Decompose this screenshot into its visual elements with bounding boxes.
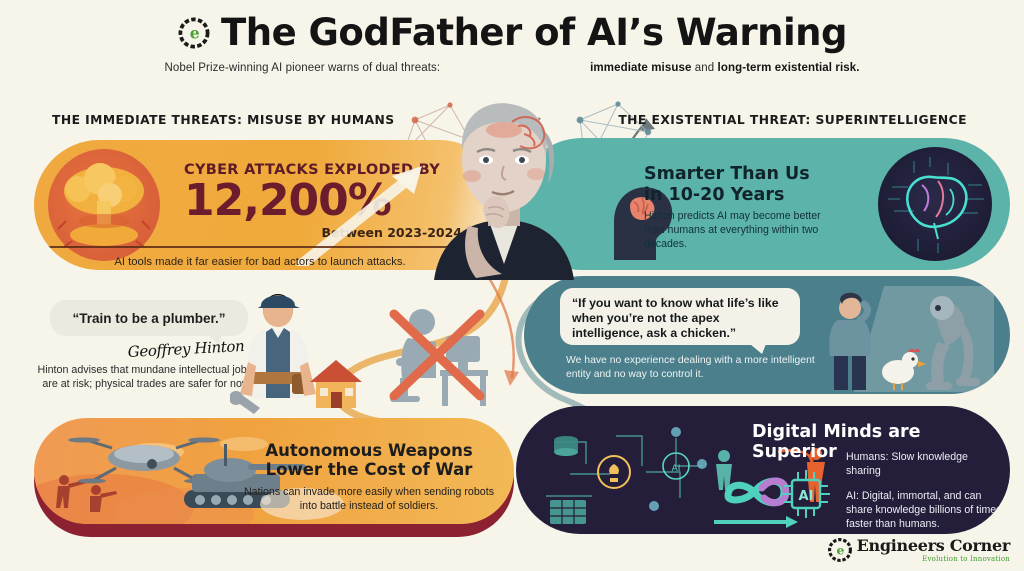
- svg-text:AI: AI: [799, 489, 814, 504]
- svg-text:e: e: [190, 24, 200, 43]
- ai-chip-icon: AI: [776, 464, 836, 524]
- footer-brand-name: Engineers Corner: [857, 536, 1010, 555]
- svg-text:AI: AI: [672, 464, 681, 474]
- footer-brand-logo: e Engineers Corner Evolution to Innovati…: [827, 537, 1010, 563]
- card-digital-minds: AI AI: [516, 406, 1010, 534]
- subtitle-bold-2: long-term existential risk.: [718, 62, 860, 74]
- quote-bubble: “If you want to know what life’s like wh…: [560, 288, 800, 345]
- subtitle-lead: Nobel Prize-winning AI pioneer warns of …: [164, 62, 440, 74]
- smarter-title-line2: in 10-20 Years: [644, 185, 826, 206]
- subtitle-bold-1: immediate misuse: [590, 62, 691, 74]
- smarter-caption: Hinton predicts AI may become better tha…: [644, 210, 826, 251]
- header: e The GodFather of AI’s Warning Nobel Pr…: [0, 14, 1024, 74]
- card-autonomous-weapons: Autonomous Weapons Lower the Cost of War…: [34, 418, 514, 524]
- crossed-out-office-worker-icon: [376, 300, 494, 410]
- card-chicken-quote: “If you want to know what life’s like wh…: [524, 276, 1010, 394]
- nuclear-explosion-icon: [48, 149, 160, 261]
- digital-row-humans: Humans: Slow knowledge sharing: [846, 451, 1004, 479]
- chicken-caption: We have no experience dealing with a mor…: [566, 354, 816, 381]
- plumber-quote: “Train to be a plumber.”: [72, 311, 225, 326]
- weapons-title-line1: Autonomous Weapons: [238, 442, 500, 461]
- chicken-quote: “If you want to know what life’s like wh…: [572, 296, 788, 341]
- worried-man-icon: [829, 293, 870, 390]
- subtitle: Nobel Prize-winning AI pioneer warns of …: [0, 62, 1024, 74]
- page-title: The GodFather of AI’s Warning: [221, 14, 847, 53]
- house-icon: [308, 358, 364, 410]
- gear-e-logo-icon: e: [827, 537, 853, 563]
- gear-e-logo-icon: e: [177, 16, 211, 50]
- left-column-header: THE IMMEDIATE THREATS: MISUSE BY HUMANS: [52, 113, 395, 127]
- infographic-poster: e The GodFather of AI’s Warning Nobel Pr…: [0, 0, 1024, 571]
- smarter-title-line1: Smarter Than Us: [644, 164, 826, 185]
- svg-text:e: e: [836, 542, 844, 557]
- digital-row-ai: AI: Digital, immortal, and can share kno…: [846, 490, 1004, 532]
- subtitle-join: and: [691, 62, 717, 74]
- digital-brain-circle-icon: [878, 147, 992, 261]
- quote-bubble: “Train to be a plumber.”: [50, 300, 248, 336]
- geoffrey-hinton-portrait: [406, 88, 602, 280]
- robot-and-man-scene: [814, 286, 994, 392]
- weapons-title-line2: Lower the Cost of War: [238, 461, 500, 480]
- weapons-caption: Nations can invade more easily when send…: [238, 486, 500, 514]
- right-column-header: THE EXISTENTIAL THREAT: SUPERINTELLIGENC…: [618, 113, 967, 127]
- plumber-caption: Hinton advises that mundane intellectual…: [30, 364, 252, 391]
- footer-tagline: Evolution to Innovation: [857, 556, 1010, 563]
